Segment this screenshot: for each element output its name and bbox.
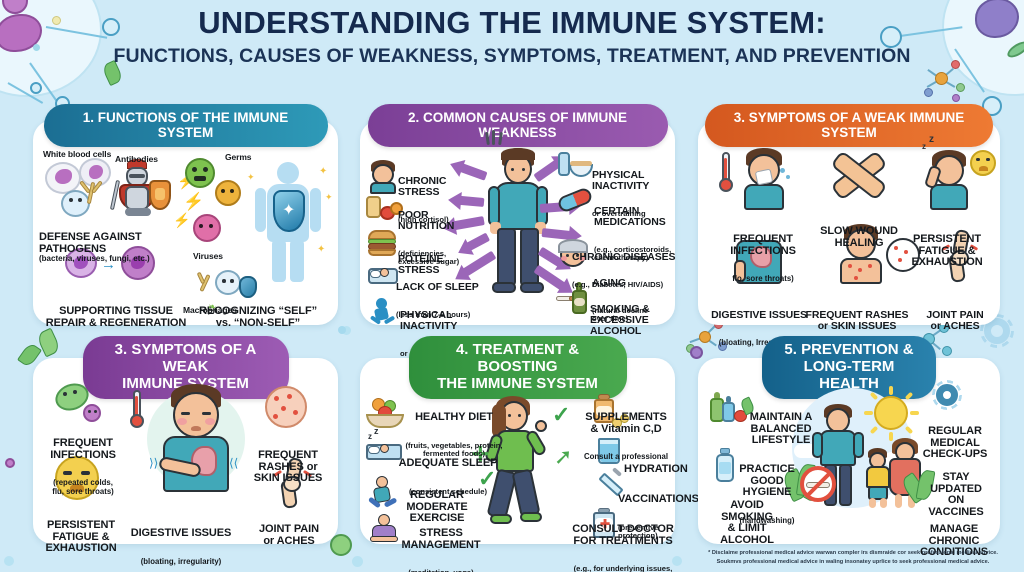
bubble-dot (4, 556, 14, 566)
curved-arrow-icon: ➚ (554, 444, 572, 470)
bubble-dot (352, 556, 363, 567)
panel-treatment[interactable]: 4. TREATMENT & BOOSTING THE IMMUNE SYSTE… (360, 358, 675, 544)
callout-white-blood-cells: White blood cells (43, 144, 111, 162)
panel-causes[interactable]: 2. COMMON CAUSES OF IMMUNE WEAKNESS (360, 120, 675, 325)
item-title: DEFENSE AGAINST PATHOGENS (39, 232, 199, 255)
item-title: CONSULT DOCTOR FOR TREATMENTS (570, 524, 676, 547)
item-sub: (bloating, irregularity) (125, 558, 237, 566)
item-title: AVOID SMOKING & LIMIT ALCOHOL (708, 500, 786, 547)
callout-label: White blood cells (43, 149, 111, 159)
disclaimer-line-1: * Disclaime professional medical advice … (700, 549, 1006, 558)
treatment-consult-doctor: CONSULT DOCTOR FOR TREATMENTS (e.g., for… (570, 506, 676, 572)
item-sub: (repeated colds, flu, sore throats) (35, 479, 131, 496)
panel-3-body: z z (698, 120, 1000, 325)
treatment-stress-management: STRESS MANAGEMENT (meditation, yoga) (392, 510, 490, 572)
item-sub: flo, sore throats) (708, 275, 818, 283)
item-title: HYDRATION (624, 464, 704, 476)
item-title: JOINT PAIN or ACHES (243, 524, 335, 547)
page-subtitle: FUNCTIONS, CAUSES OF WEAKNESS, SYMPTOMS,… (0, 45, 1024, 68)
item-title: PHYSICAL INACTIVITY (400, 310, 486, 332)
callout-germs: Germs (225, 147, 251, 165)
panel-5-body: MAINTAIN A BALANCED LIFESTYLE PRACTICE G… (698, 358, 1000, 544)
item-title: MAINTAIN A BALANCED LIFESTYLE (744, 412, 818, 447)
lightning-bolt-icon: ⚡ (173, 212, 190, 229)
bubble-dot (338, 326, 346, 334)
item-title: SUPPORTING TISSUE REPAIR & REGENERATION (41, 306, 191, 329)
item-title: SMOKING & EXCESSIVE ALCOHOL (590, 304, 674, 337)
germ-icon (5, 458, 15, 468)
item-title: FREQUENT INFECTIONS (35, 438, 131, 461)
item-defense-pathogens: DEFENSE AGAINST PATHOGENS (bacteria, vir… (39, 232, 199, 264)
symptom-b-joint-pain: JOINT PAIN or ACHES (243, 506, 335, 565)
symptom-b-frequent-infections: FREQUENT INFECTIONS (repeated colds, flu… (35, 420, 131, 514)
symptom-frequent-infections: FREQUENT INFECTIONS flo, sore throats) (708, 216, 818, 302)
item-title: FREQUENT RASHES or SKIN ISSUES (798, 310, 916, 332)
item-title: DIGESTIVE ISSUES (125, 528, 237, 540)
network-node (30, 82, 42, 94)
item-title: POOR NUTRITION (398, 210, 484, 232)
disclaimer-line-2: Soukmvs professional medical advice in w… (700, 558, 1006, 567)
item-title: SUPPLEMENTS & Vitamin C,D (576, 412, 676, 435)
bubble-dot (342, 326, 351, 335)
item-title: FREQUENT INFECTIONS (708, 234, 818, 257)
disclaimer-footnote: * Disclaime professional medical advice … (700, 549, 1006, 567)
item-title: PERSISTENT FATIGUE & EXHAUSTION (33, 520, 129, 555)
panel-symptoms-bottom[interactable]: 3. SYMPTOMS OF A WEAK IMMUNE SYSTEM (33, 358, 338, 544)
infographic-canvas: UNDERSTANDING THE IMMUNE SYSTEM: FUNCTIO… (0, 0, 1024, 572)
panel-symptoms-top[interactable]: 3. SYMPTOMS OF A WEAK IMMUNE SYSTEM (698, 120, 1000, 325)
symptom-b-persistent-fatigue: PERSISTENT FATIGUE & EXHAUSTION (33, 502, 129, 572)
item-title: PERSISTENT FATIGUE & EXHAUSTION (894, 234, 1000, 269)
callout-antibodies: Antibodies (115, 149, 158, 167)
panel-1-body: ⚡ ⚡ ⚡ (33, 120, 338, 325)
header: UNDERSTANDING THE IMMUNE SYSTEM: FUNCTIO… (0, 6, 1024, 68)
gear-icon (936, 384, 958, 406)
network-line (8, 82, 44, 104)
item-title: VACCINATIONS (618, 494, 698, 506)
item-title: HEALTHY DIET (402, 412, 506, 424)
item-sub: (bacteria, viruses, fungi, etc.) (39, 255, 199, 264)
callout-label: Antibodies (115, 154, 158, 164)
panel-4-body: ✓ ✓ ✛ ➚ z z (360, 358, 675, 544)
panel-3b-body: ⟩⟩ ⟨⟨ FREQUENT INFECTIONS (33, 358, 338, 544)
symptom-persistent-fatigue: PERSISTENT FATIGUE & EXHAUSTION (894, 216, 1000, 287)
leaf-icon: ❧ (208, 302, 216, 313)
symptom-b-digestive-issues: DIGESTIVE ISSUES (bloating, irregularity… (125, 510, 237, 572)
item-title: FREQUENT RASHES or SKIN ISSUES (241, 450, 335, 485)
panel-functions[interactable]: 1. FUNCTIONS OF THE IMMUNE SYSTEM (33, 120, 338, 325)
callout-label: Germs (225, 152, 251, 162)
check-icon: ✓ (552, 402, 570, 428)
item-title: STRESS MANAGEMENT (392, 528, 490, 551)
item-title: ADEQUATE SLEEP (398, 458, 498, 470)
panel-prevention[interactable]: 5. PREVENTION & LONG-TERM HEALTH (698, 358, 1000, 544)
item-sub: (e.g., for underlying issues, specific m… (570, 565, 676, 572)
item-title: CERTAIN MEDICATIONS (594, 206, 678, 228)
panel-2-body: CHRONIC STRESS (high cortisol) POOR NUTR… (360, 120, 675, 325)
page-title: UNDERSTANDING THE IMMUNE SYSTEM: (0, 6, 1024, 39)
item-title: JOINT PAIN or ACHES (912, 310, 998, 332)
symptom-b-frequent-rashes: FREQUENT RASHES or SKIN ISSUES (241, 432, 335, 503)
item-title: RECOGNIZING “SELF” vs. “NON-SELF” (183, 306, 333, 329)
lightning-bolt-icon: ⚡ (183, 192, 204, 212)
